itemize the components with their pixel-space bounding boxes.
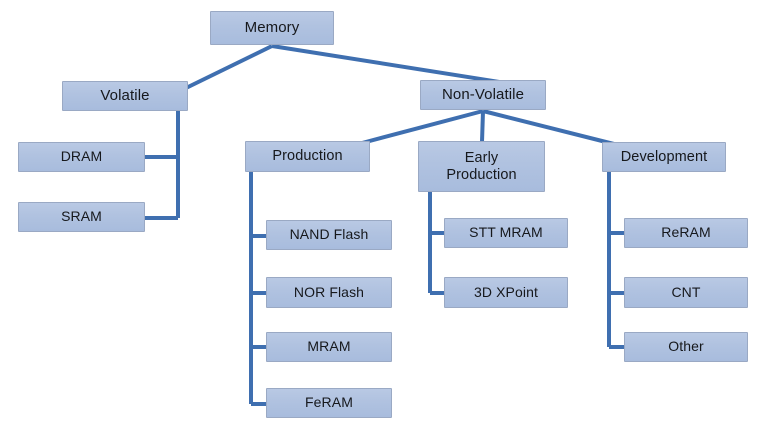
node-label-earlyproduction: Early Production [446,150,516,182]
node-label-norflash: NOR Flash [294,285,364,301]
node-feram[interactable]: FeRAM [266,388,392,418]
node-nonvolatile[interactable]: Non-Volatile [420,80,546,110]
node-label-nonvolatile: Non-Volatile [442,87,524,104]
node-3dxpoint[interactable]: 3D XPoint [444,277,568,308]
node-production[interactable]: Production [245,141,370,172]
node-label-feram: FeRAM [305,395,353,411]
node-label-development: Development [621,149,708,165]
node-label-reram: ReRAM [661,225,711,241]
node-memory[interactable]: Memory [210,11,334,45]
node-label-memory: Memory [245,20,300,37]
node-other[interactable]: Other [624,332,748,362]
node-sram[interactable]: SRAM [18,202,145,232]
node-label-cnt: CNT [671,285,700,301]
node-cnt[interactable]: CNT [624,277,748,308]
node-reram[interactable]: ReRAM [624,218,748,248]
node-label-dram: DRAM [61,149,103,165]
node-nandflash[interactable]: NAND Flash [266,220,392,250]
node-dram[interactable]: DRAM [18,142,145,172]
node-label-volatile: Volatile [100,88,149,105]
node-earlyproduction[interactable]: Early Production [418,141,545,192]
node-label-nandflash: NAND Flash [290,227,369,243]
node-layer: MemoryVolatileNon-VolatileDRAMSRAMProduc… [0,0,767,438]
node-mram[interactable]: MRAM [266,332,392,362]
node-norflash[interactable]: NOR Flash [266,277,392,308]
node-development[interactable]: Development [602,142,726,172]
node-volatile[interactable]: Volatile [62,81,188,111]
node-label-mram: MRAM [307,339,350,355]
node-label-sttmram: STT MRAM [469,225,543,241]
node-label-other: Other [668,339,704,355]
node-label-3dxpoint: 3D XPoint [474,285,538,301]
node-sttmram[interactable]: STT MRAM [444,218,568,248]
memory-taxonomy-diagram: MemoryVolatileNon-VolatileDRAMSRAMProduc… [0,0,767,438]
node-label-production: Production [272,148,342,164]
node-label-sram: SRAM [61,209,102,225]
